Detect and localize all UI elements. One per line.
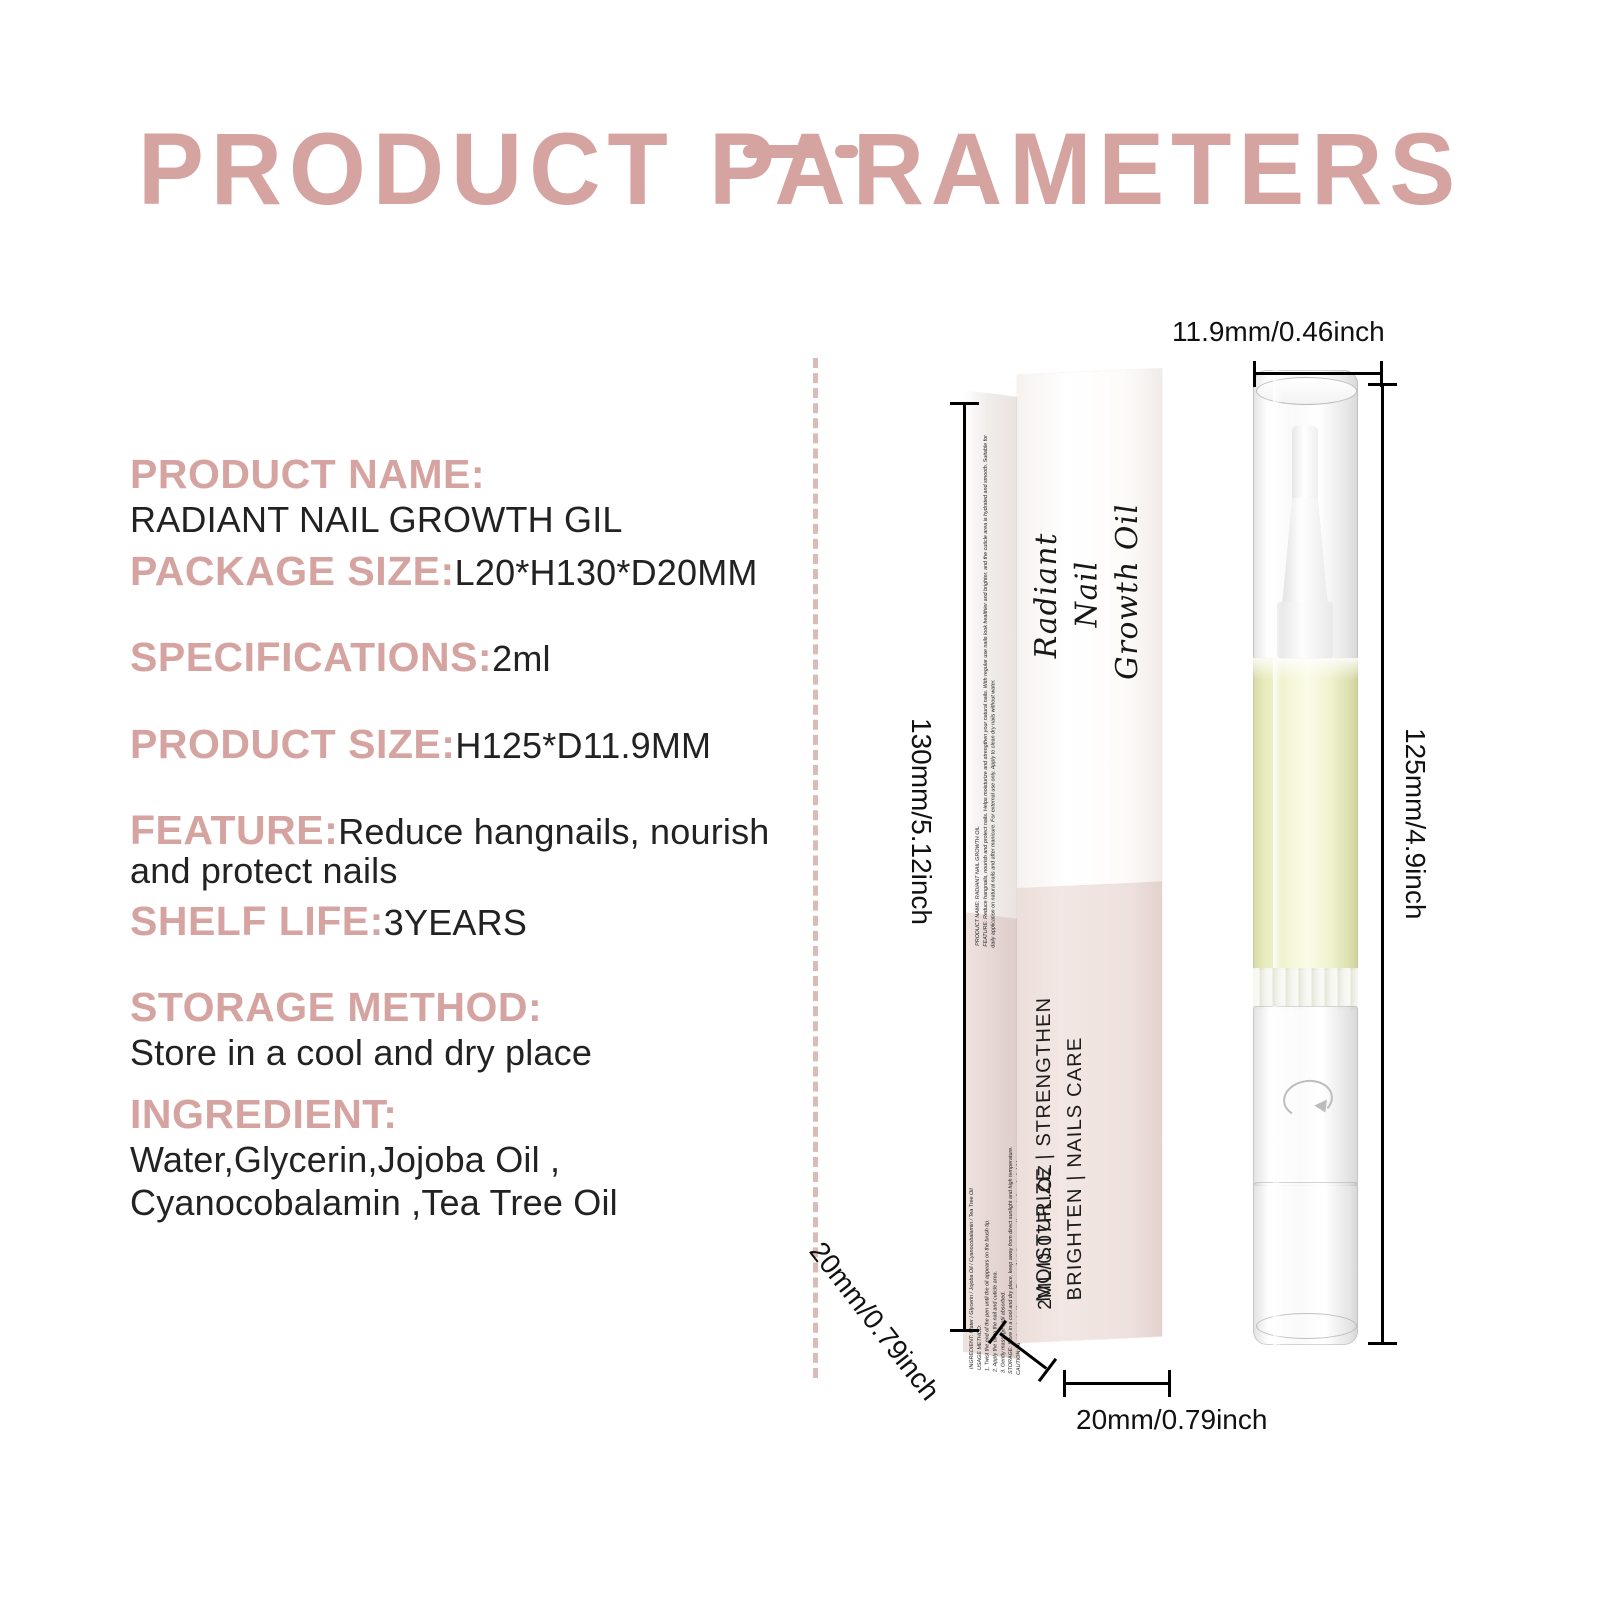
- dim-tick-carton-width-left: [1063, 1370, 1066, 1397]
- dim-label-carton-height: 130mm/5.12inch: [905, 718, 937, 925]
- spec-row-shelf-life: SHELF LIFE:3YEARS: [130, 899, 780, 943]
- spec-row-product-size: PRODUCT SIZE:H125*D11.9MM: [130, 722, 780, 766]
- brand-line-3: Growth Oil: [1110, 503, 1145, 681]
- product-carton-illustration: PRODUCT NAME: RADIANT NAIL GROWTH OIL FE…: [955, 363, 1185, 1353]
- nail-oil-pen-illustration: [1253, 370, 1358, 1345]
- spec-value-product-size: H125*D11.9MM: [455, 725, 711, 766]
- dim-tick-pen-height-top: [1368, 383, 1397, 386]
- pen-highlight: [1273, 658, 1282, 970]
- dim-label-carton-width: 20mm/0.79inch: [1076, 1404, 1267, 1436]
- spacer: [130, 768, 780, 808]
- title-underline-decoration: [0, 136, 1600, 166]
- dim-tick-carton-height-top: [950, 402, 979, 405]
- underline-dash-long: [743, 145, 821, 158]
- pen-oil-barrel: [1253, 658, 1358, 970]
- pen-base: [1253, 1182, 1358, 1345]
- dim-label-pen-diameter: 11.9mm/0.46inch: [1172, 316, 1385, 348]
- dim-tick-pen-diameter-left: [1253, 361, 1256, 387]
- dim-tick-pen-height-bottom: [1368, 1342, 1397, 1345]
- spec-row-storage-method: STORAGE METHOD: Store in a cool and dry …: [130, 985, 780, 1074]
- pen-twist-section: [1253, 1006, 1358, 1186]
- carton-claim-line-2: BRIGHTEN | NAILS CARE: [1060, 920, 1091, 1301]
- spec-value-package-size: L20*H130*D20MM: [455, 552, 758, 593]
- brand-line-2: Nail: [1070, 559, 1105, 628]
- dim-line-pen-height: [1381, 383, 1384, 1345]
- spec-row-package-size: PACKAGE SIZE:L20*H130*D20MM: [130, 549, 780, 593]
- spec-value-product-name: RADIANT NAIL GROWTH GIL: [130, 498, 780, 541]
- pen-thread-ring: [1253, 968, 1358, 1010]
- spec-label-product-size: PRODUCT SIZE:: [130, 721, 455, 767]
- carton-front-panel: Radiant Nail Growth Oil MOISTURIZE | STR…: [1017, 368, 1162, 1343]
- spacer: [130, 682, 780, 722]
- spec-label-package-size: PACKAGE SIZE:: [130, 548, 455, 594]
- pen-cap: [1253, 370, 1358, 660]
- underline-dash-short: [835, 145, 858, 158]
- spec-label-storage-method: STORAGE METHOD:: [130, 985, 780, 1031]
- pen-base-rim: [1256, 1313, 1357, 1339]
- brush-cone: [1282, 498, 1328, 606]
- spec-value-specifications: 2ml: [492, 638, 551, 679]
- page-header: PRODUCT PARAMETERS: [0, 118, 1600, 220]
- carton-volume-label: 2ML/0.07FL.OZ: [1035, 1163, 1057, 1310]
- spec-value-ingredient: Water,Glycerin,Jojoba Oil , Cyanocobalam…: [130, 1138, 780, 1224]
- vertical-dashed-divider: [813, 358, 818, 1378]
- dim-label-carton-depth: 20mm/0.79inch: [803, 1236, 946, 1407]
- spec-label-product-name: PRODUCT NAME:: [130, 452, 780, 498]
- pen-barrel-top-ring: [1253, 658, 1358, 680]
- pen-cap-rim: [1256, 377, 1357, 405]
- page-title: PRODUCT PARAMETERS: [24, 118, 1576, 220]
- spec-value-storage-method: Store in a cool and dry place: [130, 1031, 780, 1074]
- dim-line-carton-width: [1063, 1382, 1171, 1385]
- spec-label-feature: FEATURE:: [130, 807, 338, 853]
- spec-row-product-name: PRODUCT NAME: RADIANT NAIL GROWTH GIL: [130, 452, 780, 541]
- spec-label-specifications: SPECIFICATIONS:: [130, 634, 492, 680]
- product-spec-list: PRODUCT NAME: RADIANT NAIL GROWTH GIL PA…: [130, 452, 780, 1227]
- spec-row-specifications: SPECIFICATIONS:2ml: [130, 635, 780, 679]
- dim-line-carton-height: [963, 402, 966, 1332]
- dim-tick-carton-height-bottom: [950, 1329, 979, 1332]
- pen-highlight: [1273, 1006, 1282, 1186]
- carton-brand-name: Radiant Nail Growth Oil: [1027, 451, 1152, 737]
- dim-label-pen-height: 125mm/4.9inch: [1399, 728, 1431, 919]
- carton-side-panel: PRODUCT NAME: RADIANT NAIL GROWTH OIL FE…: [963, 390, 1019, 1359]
- spacer: [130, 1076, 780, 1092]
- spec-row-feature: FEATURE:Reduce hangnails, nourish and pr…: [130, 808, 780, 891]
- spacer: [130, 945, 780, 985]
- spec-value-shelf-life: 3YEARS: [384, 902, 527, 943]
- dim-tick-carton-width-right: [1168, 1370, 1171, 1397]
- pen-collar: [1277, 602, 1333, 658]
- spacer: [130, 595, 780, 635]
- applicator-brush-icon: [1292, 426, 1318, 504]
- spec-row-ingredient: INGREDIENT: Water,Glycerin,Jojoba Oil , …: [130, 1092, 780, 1224]
- spec-label-shelf-life: SHELF LIFE:: [130, 898, 384, 944]
- spec-label-ingredient: INGREDIENT:: [130, 1092, 780, 1138]
- brand-line-1: Radiant: [1029, 532, 1064, 660]
- carton-side-text-top: PRODUCT NAME: RADIANT NAIL GROWTH OIL FE…: [975, 425, 1017, 950]
- dim-line-pen-diameter: [1253, 372, 1383, 375]
- carton-side-text-bottom: INGREDIENT: Water / Glycerin / Jojoba Oi…: [969, 939, 1017, 1375]
